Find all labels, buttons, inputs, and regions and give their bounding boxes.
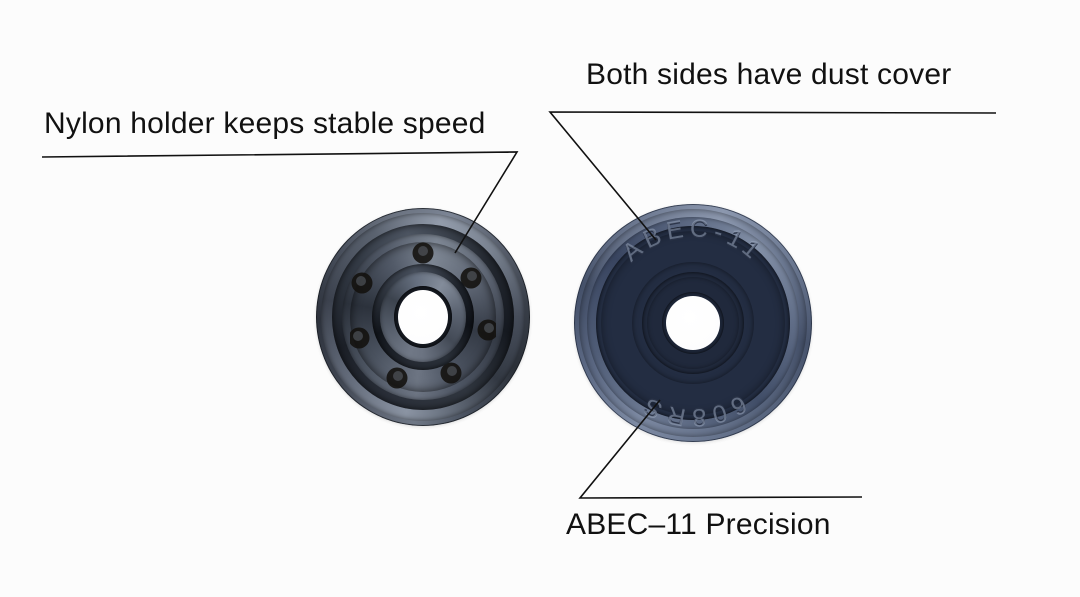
- callout-label-dust-cover: Both sides have dust cover: [586, 58, 951, 92]
- infographic-canvas: ABEC-11 ABEC-11 608RS 608RS Nylon holder…: [0, 0, 1080, 597]
- bearing-bore: [666, 296, 720, 350]
- callout-label-abec-precision: ABEC–11 Precision: [566, 508, 831, 542]
- open-face-bearing: [316, 208, 530, 426]
- leader-line-dust-cover: [550, 112, 996, 240]
- callout-label-nylon-holder: Nylon holder keeps stable speed: [44, 107, 485, 141]
- bearing-bore: [398, 290, 448, 344]
- sealed-dust-cover-bearing: ABEC-11 ABEC-11 608RS 608RS: [574, 204, 812, 442]
